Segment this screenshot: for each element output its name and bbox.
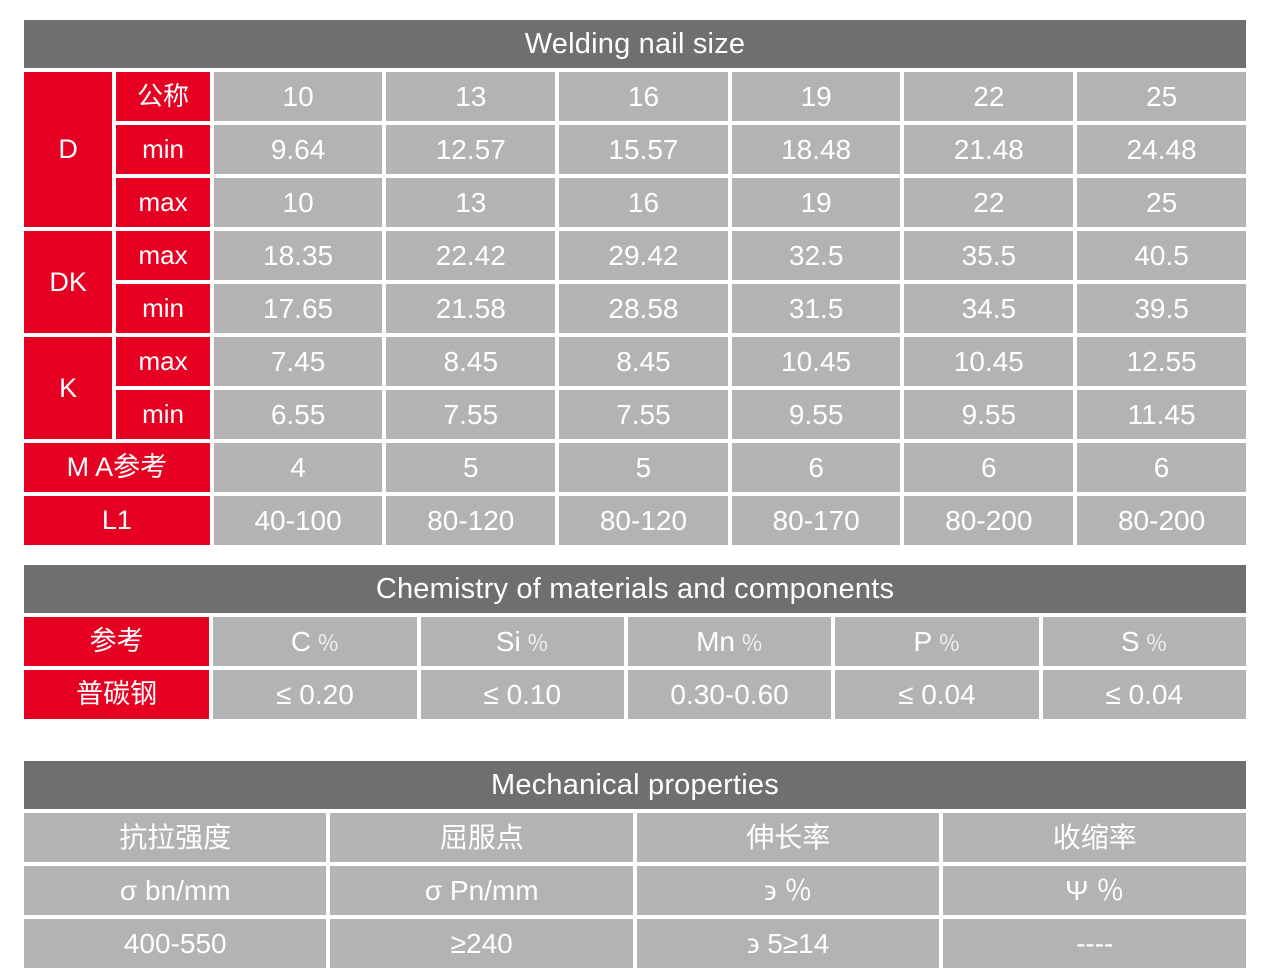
cell-value: 25 bbox=[1075, 176, 1248, 229]
column-header-c: C％ bbox=[211, 615, 418, 668]
cell-value: 21.48 bbox=[902, 123, 1075, 176]
table-row: min 17.65 21.58 28.58 31.5 34.5 39.5 bbox=[22, 282, 1248, 335]
element-symbol: Mn bbox=[696, 626, 738, 657]
row-group-label-dk: DK bbox=[22, 229, 114, 335]
row-group-label-k: K bbox=[22, 335, 114, 441]
cell-value: 21.58 bbox=[384, 282, 557, 335]
cell-value: 80-170 bbox=[730, 494, 903, 547]
column-header-si: Si％ bbox=[419, 615, 626, 668]
cell-value: 22.42 bbox=[384, 229, 557, 282]
cell-value: 34.5 bbox=[902, 282, 1075, 335]
cell-value: 10.45 bbox=[730, 335, 903, 388]
table-row: L1 40-100 80-120 80-120 80-170 80-200 80… bbox=[22, 494, 1248, 547]
welding-nail-size-table: Welding nail size D 公称 10 13 16 19 22 25… bbox=[22, 18, 1248, 547]
column-header-yield-point: 屈服点 bbox=[328, 811, 634, 864]
cell-value: 6 bbox=[1075, 441, 1248, 494]
chemistry-table: Chemistry of materials and components 参考… bbox=[22, 563, 1248, 721]
percent-unit: ％ bbox=[738, 631, 763, 656]
cell-value: 80-120 bbox=[384, 494, 557, 547]
cell-value: 5 bbox=[557, 441, 730, 494]
cell-value: 19 bbox=[730, 70, 903, 123]
cell-value: 12.55 bbox=[1075, 335, 1248, 388]
cell-value: 10.45 bbox=[902, 335, 1075, 388]
cell-value: 13 bbox=[384, 70, 557, 123]
column-header-tensile-strength: 抗拉强度 bbox=[22, 811, 328, 864]
percent-unit: ％ bbox=[524, 631, 549, 656]
cell-value: 40.5 bbox=[1075, 229, 1248, 282]
row-sub-label: max bbox=[114, 335, 211, 388]
cell-value: 22 bbox=[902, 70, 1075, 123]
cell-value: ---- bbox=[941, 917, 1248, 970]
chemistry-row-label: 普碳钢 bbox=[22, 668, 211, 721]
mechanical-properties-table: Mechanical properties 抗拉强度 屈服点 伸长率 收缩率 σ… bbox=[22, 759, 1248, 970]
cell-value: 8.45 bbox=[557, 335, 730, 388]
cell-value: 7.55 bbox=[384, 388, 557, 441]
column-header-s: S％ bbox=[1041, 615, 1248, 668]
cell-value: 0.30-0.60 bbox=[626, 668, 833, 721]
column-header-mn: Mn％ bbox=[626, 615, 833, 668]
cell-value: 25 bbox=[1075, 70, 1248, 123]
cell-value: ≥240 bbox=[328, 917, 634, 970]
table-row: D 公称 10 13 16 19 22 25 bbox=[22, 70, 1248, 123]
table-header-row: 抗拉强度 屈服点 伸长率 收缩率 bbox=[22, 811, 1248, 864]
row-sub-label: min bbox=[114, 123, 211, 176]
table-caption-row: Welding nail size bbox=[22, 18, 1248, 70]
table-units-row: σ bn/mm σ Pn/mm ϶ ％ Ψ ％ bbox=[22, 864, 1248, 917]
cell-value: 19 bbox=[730, 176, 903, 229]
cell-value: 6 bbox=[902, 441, 1075, 494]
cell-value: 12.57 bbox=[384, 123, 557, 176]
cell-value: 400-550 bbox=[22, 917, 328, 970]
table-row: M A参考 4 5 5 6 6 6 bbox=[22, 441, 1248, 494]
row-sub-label: max bbox=[114, 176, 211, 229]
cell-value: 15.57 bbox=[557, 123, 730, 176]
table-caption-row: Chemistry of materials and components bbox=[22, 563, 1248, 615]
cell-value: ≤ 0.20 bbox=[211, 668, 418, 721]
row-sub-label: min bbox=[114, 282, 211, 335]
cell-value: 13 bbox=[384, 176, 557, 229]
table-caption-row: Mechanical properties bbox=[22, 759, 1248, 811]
spec-sheet-page: Welding nail size D 公称 10 13 16 19 22 25… bbox=[0, 0, 1275, 979]
element-symbol: S bbox=[1121, 626, 1143, 657]
cell-value: 6 bbox=[730, 441, 903, 494]
chemistry-header-label: 参考 bbox=[22, 615, 211, 668]
element-symbol: P bbox=[914, 626, 936, 657]
cell-value: 24.48 bbox=[1075, 123, 1248, 176]
unit-reduction: Ψ ％ bbox=[941, 864, 1248, 917]
row-sub-label: min bbox=[114, 388, 211, 441]
chemistry-table-caption: Chemistry of materials and components bbox=[22, 563, 1248, 615]
cell-value: ≤ 0.04 bbox=[1041, 668, 1248, 721]
cell-value: 10 bbox=[212, 176, 385, 229]
unit-yield-point: σ Pn/mm bbox=[328, 864, 634, 917]
unit-elongation: ϶ ％ bbox=[635, 864, 941, 917]
cell-value: 4 bbox=[212, 441, 385, 494]
cell-value: 6.55 bbox=[212, 388, 385, 441]
cell-value: 31.5 bbox=[730, 282, 903, 335]
row-label-ma: M A参考 bbox=[22, 441, 212, 494]
cell-value: 18.48 bbox=[730, 123, 903, 176]
cell-value: 7.45 bbox=[212, 335, 385, 388]
cell-value: ϶ 5≥14 bbox=[635, 917, 941, 970]
element-symbol: Si bbox=[496, 626, 524, 657]
cell-value: 11.45 bbox=[1075, 388, 1248, 441]
cell-value: ≤ 0.04 bbox=[833, 668, 1040, 721]
cell-value: 10 bbox=[212, 70, 385, 123]
table-row: K max 7.45 8.45 8.45 10.45 10.45 12.55 bbox=[22, 335, 1248, 388]
mechanical-table-caption: Mechanical properties bbox=[22, 759, 1248, 811]
unit-tensile-strength: σ bn/mm bbox=[22, 864, 328, 917]
column-header-p: P％ bbox=[833, 615, 1040, 668]
percent-unit: ％ bbox=[935, 631, 960, 656]
cell-value: 7.55 bbox=[557, 388, 730, 441]
row-group-label-d: D bbox=[22, 70, 114, 229]
cell-value: 9.55 bbox=[902, 388, 1075, 441]
cell-value: 8.45 bbox=[384, 335, 557, 388]
cell-value: 28.58 bbox=[557, 282, 730, 335]
cell-value: 9.64 bbox=[212, 123, 385, 176]
cell-value: 16 bbox=[557, 70, 730, 123]
table-row: DK max 18.35 22.42 29.42 32.5 35.5 40.5 bbox=[22, 229, 1248, 282]
cell-value: 35.5 bbox=[902, 229, 1075, 282]
cell-value: 40-100 bbox=[212, 494, 385, 547]
cell-value: 80-200 bbox=[902, 494, 1075, 547]
cell-value: 16 bbox=[557, 176, 730, 229]
table-header-row: 参考 C％ Si％ Mn％ P％ S％ bbox=[22, 615, 1248, 668]
table-row: min 9.64 12.57 15.57 18.48 21.48 24.48 bbox=[22, 123, 1248, 176]
column-header-reduction: 收缩率 bbox=[941, 811, 1248, 864]
row-label-l1: L1 bbox=[22, 494, 212, 547]
cell-value: 17.65 bbox=[212, 282, 385, 335]
table-row: max 10 13 16 19 22 25 bbox=[22, 176, 1248, 229]
cell-value: ≤ 0.10 bbox=[419, 668, 626, 721]
percent-unit: ％ bbox=[314, 631, 339, 656]
cell-value: 9.55 bbox=[730, 388, 903, 441]
size-table-caption: Welding nail size bbox=[22, 18, 1248, 70]
column-header-elongation: 伸长率 bbox=[635, 811, 941, 864]
cell-value: 22 bbox=[902, 176, 1075, 229]
table-row: min 6.55 7.55 7.55 9.55 9.55 11.45 bbox=[22, 388, 1248, 441]
table-row: 400-550 ≥240 ϶ 5≥14 ---- bbox=[22, 917, 1248, 970]
cell-value: 80-200 bbox=[1075, 494, 1248, 547]
cell-value: 5 bbox=[384, 441, 557, 494]
row-sub-label: max bbox=[114, 229, 211, 282]
cell-value: 18.35 bbox=[212, 229, 385, 282]
table-row: 普碳钢 ≤ 0.20 ≤ 0.10 0.30-0.60 ≤ 0.04 ≤ 0.0… bbox=[22, 668, 1248, 721]
cell-value: 39.5 bbox=[1075, 282, 1248, 335]
cell-value: 29.42 bbox=[557, 229, 730, 282]
percent-unit: ％ bbox=[1143, 631, 1168, 656]
row-sub-label: 公称 bbox=[114, 70, 211, 123]
cell-value: 80-120 bbox=[557, 494, 730, 547]
element-symbol: C bbox=[291, 626, 314, 657]
cell-value: 32.5 bbox=[730, 229, 903, 282]
